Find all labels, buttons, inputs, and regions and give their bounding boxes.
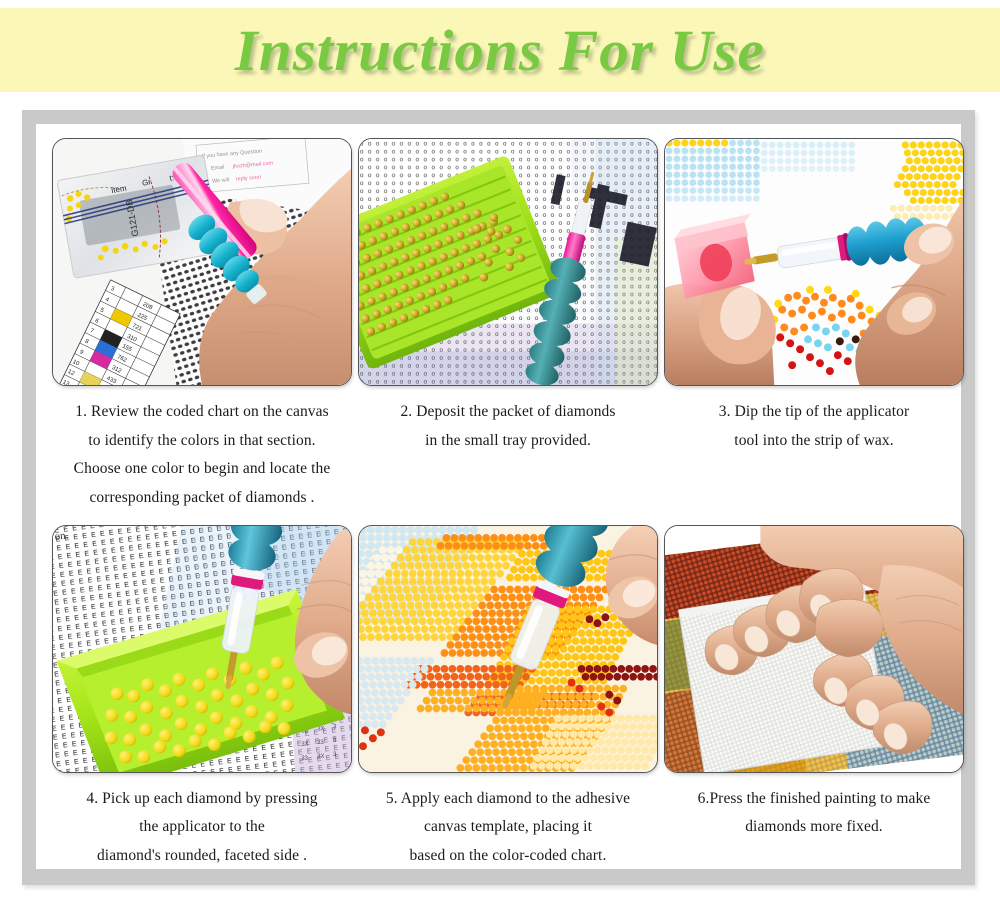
step-5-caption: 5. Apply each diamond to the adhesive ca…	[358, 785, 658, 871]
step-6-photo-press-finished-painting	[664, 525, 964, 773]
svg-text:3X: 3X	[317, 726, 324, 732]
step-2-caption: 2. Deposit the packet of diamonds in the…	[358, 398, 658, 455]
step-card-6: 6.Press the finished painting to make di…	[664, 525, 964, 871]
steps-row-1: If you have any Question Email We will j…	[52, 138, 945, 513]
step-card-1: If you have any Question Email We will j…	[52, 138, 352, 513]
svg-text:on.: on.	[54, 529, 69, 542]
svg-text:3X: 3X	[317, 754, 324, 760]
step-1-photo-review-coded-chart: If you have any Question Email We will j…	[52, 138, 352, 386]
header-band: Instructions For Use	[0, 8, 1000, 92]
step-card-3: 3. Dip the tip of the applicator tool in…	[664, 138, 964, 513]
instructions-panel: If you have any Question Email We will j…	[36, 124, 961, 869]
svg-text:33: 33	[317, 740, 324, 746]
page-title: Instructions For Use	[235, 17, 765, 84]
step-1-caption: 1. Review the coded chart on the canvas …	[52, 398, 352, 513]
step-4-photo-pick-up-diamond: E D	[52, 525, 352, 773]
step-3-caption: 3. Dip the tip of the applicator tool in…	[664, 398, 964, 455]
step-5-photo-apply-diamond-to-canvas	[358, 525, 658, 773]
steps-row-2: E D	[52, 525, 945, 871]
svg-text:33: 33	[301, 756, 308, 762]
step-6-caption: 6.Press the finished painting to make di…	[664, 785, 964, 842]
step-card-4: E D	[52, 525, 352, 871]
step-card-2: o	[358, 138, 658, 513]
instructions-frame: If you have any Question Email We will j…	[22, 110, 975, 885]
step-card-5: 5. Apply each diamond to the adhesive ca…	[358, 525, 658, 871]
svg-text:3X: 3X	[301, 742, 308, 748]
step-2-photo-deposit-diamonds-in-tray: o	[358, 138, 658, 386]
step-3-photo-dip-applicator-in-wax	[664, 138, 964, 386]
step-4-caption: 4. Pick up each diamond by pressing the …	[52, 785, 352, 871]
svg-text:Email: Email	[211, 165, 225, 172]
